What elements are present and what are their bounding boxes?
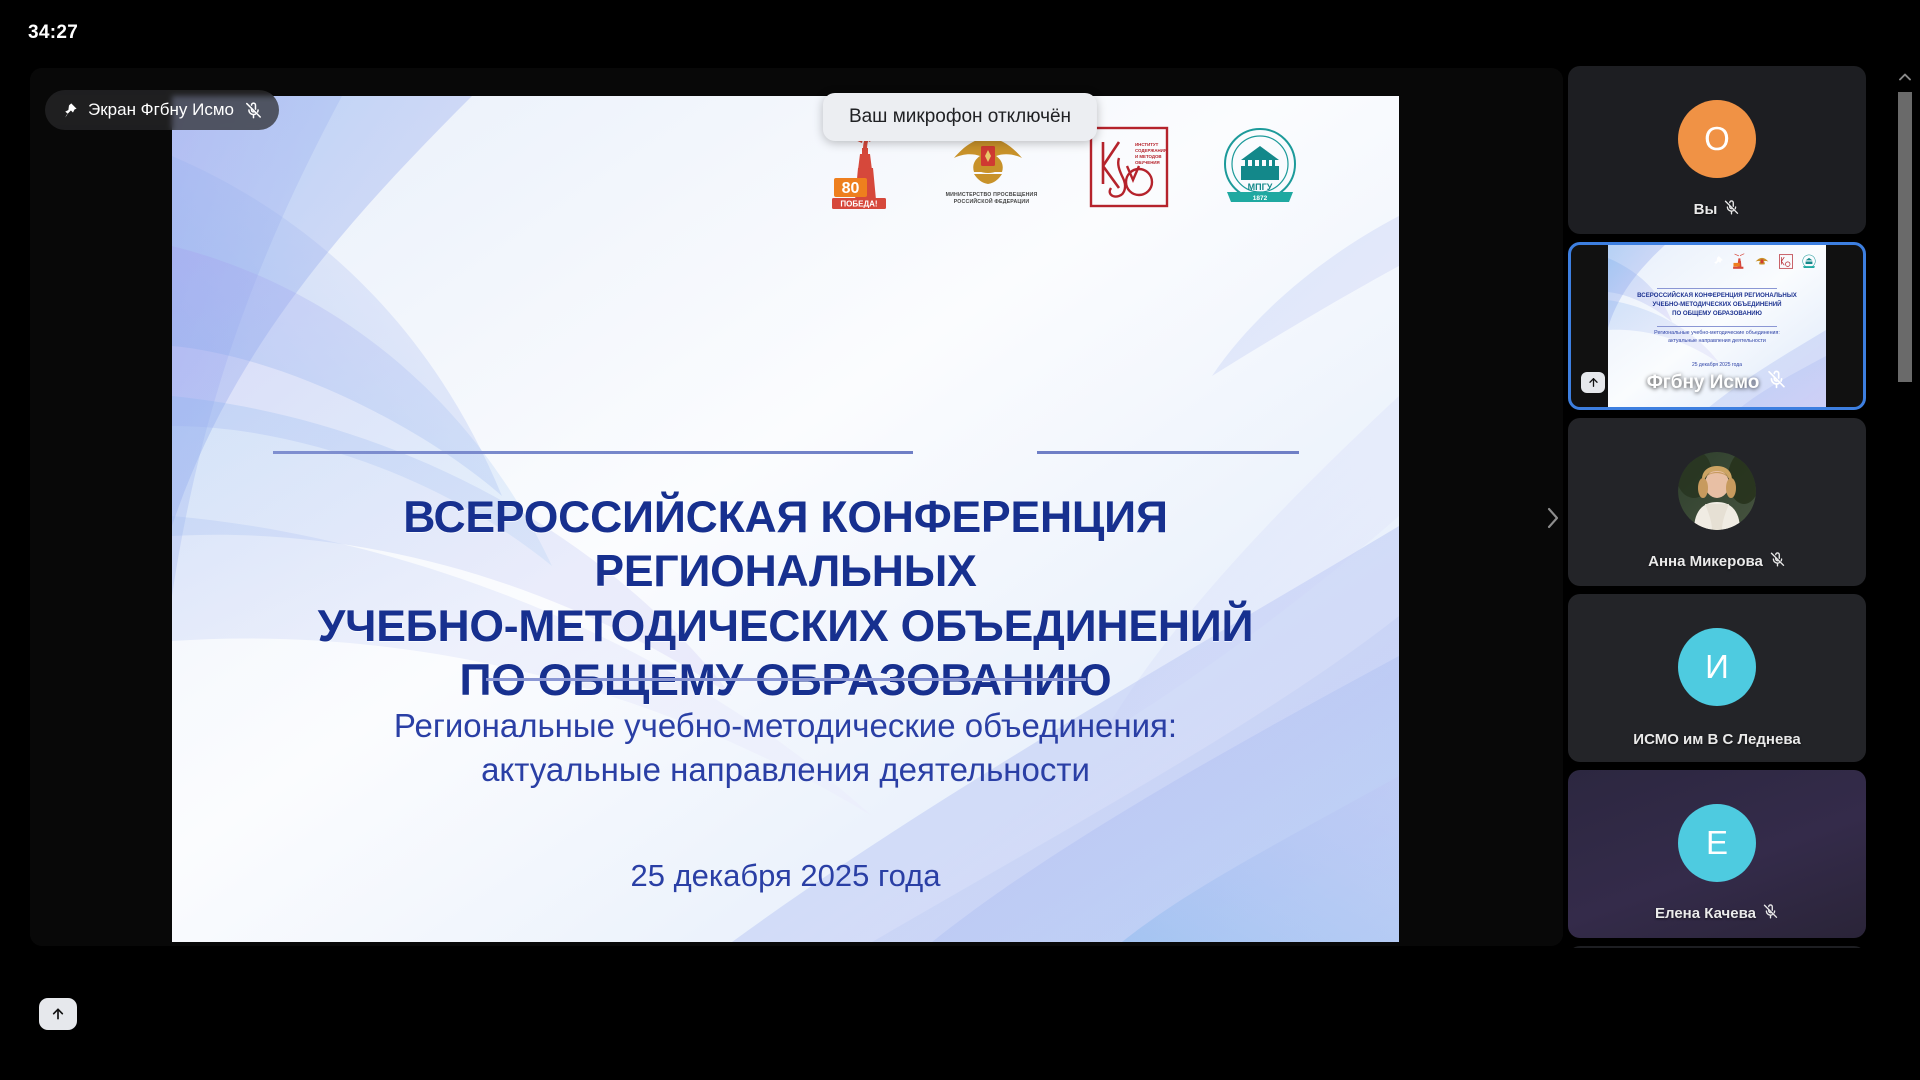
mic-off-icon (1766, 369, 1787, 396)
mini-slide-date: 25 декабря 2025 года (1618, 362, 1816, 368)
participant-tile-you[interactable]: О Вы (1568, 66, 1866, 234)
video-call-window: 34:27 (0, 0, 1920, 1080)
svg-text:СОДЕРЖАНИЯ: СОДЕРЖАНИЯ (1135, 148, 1167, 153)
participant-tile-screen-share[interactable]: ВСЕРОССИЙСКАЯ КОНФЕРЕНЦИЯ РЕГИОНАЛЬНЫХ У… (1568, 242, 1866, 410)
pinned-screen-pill[interactable]: Экран Фгбну Исмо (45, 90, 279, 130)
avatar-initial: О (1704, 120, 1730, 158)
slide-top-rules (172, 451, 1399, 454)
slide-subtitle-line-1: Региональные учебно-методические объедин… (232, 704, 1339, 748)
participant-name: Анна Микерова (1648, 553, 1763, 570)
svg-text:ОБУЧЕНИЯ: ОБУЧЕНИЯ (1135, 160, 1160, 165)
pobeda-80-logo (1733, 253, 1745, 274)
participants-sidebar[interactable]: О Вы (1568, 66, 1888, 948)
mic-off-icon (1723, 199, 1740, 220)
mic-off-icon (1762, 903, 1779, 924)
participant-tile-elena-kacheva[interactable]: Е Елена Качева (1568, 770, 1866, 938)
pin-icon (61, 102, 78, 119)
participant-name-label: Вы (1568, 199, 1866, 220)
avatar: И (1678, 628, 1756, 706)
pobeda-number: 80 (841, 180, 859, 197)
chevron-right-icon (1545, 505, 1561, 536)
chevron-up-icon[interactable] (1896, 66, 1914, 88)
call-controls: 18 (0, 948, 1920, 1080)
mpgu-logo (1802, 254, 1816, 274)
slide-logos: 80 ПОБЕДА! (172, 126, 1399, 210)
participant-name-label: Фгбну Исмо (1571, 369, 1863, 396)
pobeda-caption: ПОБЕДА! (840, 200, 877, 209)
slide-title: ВСЕРОССИЙСКАЯ КОНФЕРЕНЦИЯ РЕГИОНАЛЬНЫХ У… (232, 491, 1339, 708)
ismo-logo: ИНСТИТУТ СОДЕРЖАНИЯ И МЕТОДОВ ОБУЧЕНИЯ (1089, 126, 1169, 208)
participant-tile-ismo-lednev[interactable]: И ИСМО им В С Леднева (1568, 594, 1866, 762)
mic-off-icon (1769, 551, 1786, 572)
slide-title-line-1: ВСЕРОССИЙСКАЯ КОНФЕРЕНЦИЯ РЕГИОНАЛЬНЫХ (232, 491, 1339, 600)
main-stage[interactable]: 80 ПОБЕДА! (30, 68, 1563, 946)
mpgu-logo: МПГУ 1872 (1221, 126, 1299, 206)
mini-rule-top (1657, 288, 1777, 289)
mini-slide-title: ВСЕРОССИЙСКАЯ КОНФЕРЕНЦИЯ РЕГИОНАЛЬНЫХ У… (1618, 292, 1816, 318)
mic-muted-toast: Ваш микрофон отключён (823, 93, 1097, 141)
avatar (1678, 452, 1756, 530)
mini-slide-logos (1608, 253, 1816, 274)
participant-name-label: Анна Микерова (1568, 551, 1866, 572)
mpgu-caption: МПГУ (1248, 182, 1273, 192)
call-timer: 34:27 (28, 22, 78, 44)
slide-middle-rule (486, 678, 1086, 681)
svg-text:И МЕТОДОВ: И МЕТОДОВ (1135, 154, 1162, 159)
sidebar-collapse-toggle[interactable] (1540, 497, 1566, 543)
pinned-screen-label: Экран Фгбну Исмо (88, 100, 234, 120)
participant-name: ИСМО им В С Леднева (1633, 731, 1800, 748)
mic-off-icon (244, 101, 263, 120)
ministry-logo-caption: МИНИСТЕРСТВО ПРОСВЕЩЕНИЯ РОССИЙСКОЙ ФЕДЕ… (946, 192, 1038, 206)
slide-title-line-3: ПО ОБЩЕМУ ОБРАЗОВАНИЮ (232, 654, 1339, 708)
slide-date: 25 декабря 2025 года (232, 858, 1339, 894)
sidebar-scrollbar[interactable] (1896, 66, 1914, 948)
participant-name: Фгбну Исмо (1647, 372, 1760, 394)
avatar-initial: И (1705, 648, 1729, 686)
participant-name: Вы (1694, 201, 1718, 218)
slide-subtitle: Региональные учебно-методические объедин… (232, 704, 1339, 792)
scrollbar-thumb[interactable] (1898, 92, 1912, 382)
ministry-of-education-logo (1754, 255, 1770, 273)
mini-rule-middle (1657, 326, 1777, 327)
participant-name: Елена Качева (1655, 905, 1756, 922)
pin-icon (1711, 255, 1724, 273)
avatar: О (1678, 100, 1756, 178)
slide-title-line-2: УЧЕБНО-МЕТОДИЧЕСКИХ ОБЪЕДИНЕНИЙ (232, 600, 1339, 654)
mini-slide-subtitle: Региональные учебно-методические объедин… (1618, 330, 1816, 346)
ismo-logo (1779, 254, 1793, 274)
shared-slide: 80 ПОБЕДА! (172, 96, 1399, 942)
screen-share-icon (39, 998, 77, 1030)
svg-text:ИНСТИТУТ: ИНСТИТУТ (1135, 142, 1159, 147)
participant-name-label: Елена Качева (1568, 903, 1866, 924)
avatar: Е (1678, 804, 1756, 882)
avatar-initial: Е (1706, 824, 1728, 862)
slide-subtitle-line-2: актуальные направления деятельности (232, 748, 1339, 792)
participant-name-label: ИСМО им В С Леднева (1568, 731, 1866, 748)
mpgu-year: 1872 (1253, 195, 1268, 202)
participant-tile-anna-mikerova[interactable]: Анна Микерова (1568, 418, 1866, 586)
share-screen-button[interactable] (36, 992, 80, 1036)
